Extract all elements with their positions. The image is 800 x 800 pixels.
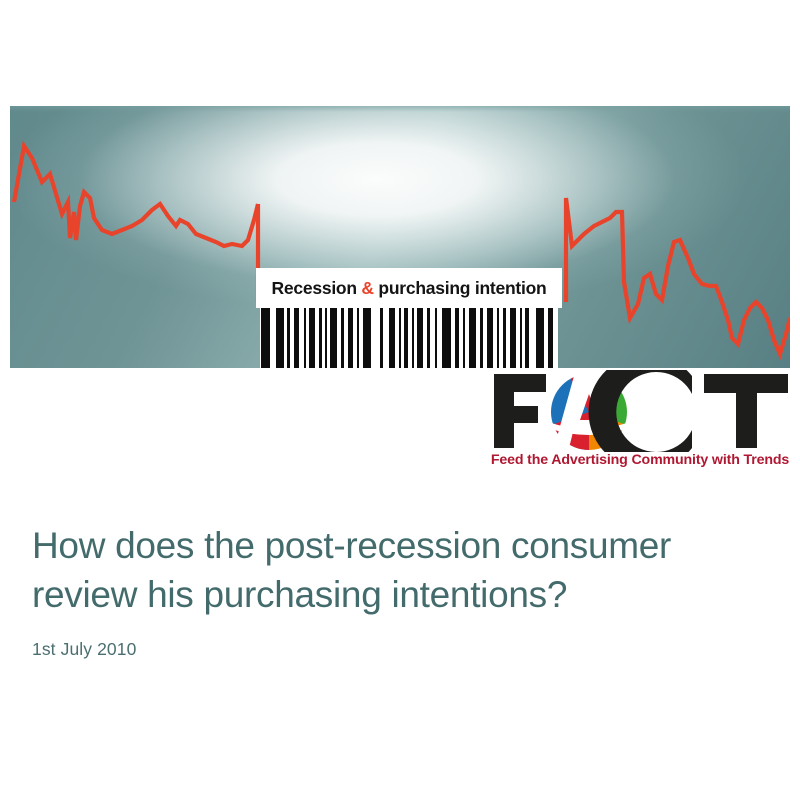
fact-wordmark (488, 370, 792, 452)
barcode-title-suffix: purchasing intention (374, 278, 547, 298)
page-title: How does the post-recession consumer rev… (32, 521, 762, 619)
slide-date: 1st July 2010 (32, 639, 762, 660)
trend-line-right (566, 198, 790, 354)
barcode-title-ampersand: & (361, 278, 373, 298)
logo-a-spacer-top (572, 370, 606, 376)
barcode-graphic: Recession & purchasing intention (256, 268, 562, 368)
barcode-title-label: Recession & purchasing intention (256, 268, 562, 308)
barcode-title-prefix: Recession (272, 278, 362, 298)
barcode-title-text: Recession & purchasing intention (272, 278, 547, 299)
logo-letter-f (494, 374, 546, 448)
logo-letter-t (704, 374, 788, 448)
trend-line-left (14, 146, 258, 246)
slide-canvas: Recession & purchasing intention (0, 0, 800, 800)
hero-banner-image: Recession & purchasing intention (10, 106, 790, 368)
title-block: How does the post-recession consumer rev… (32, 521, 762, 660)
fact-logo-tagline: Feed the Advertising Community with Tren… (488, 452, 792, 468)
logo-letter-c (589, 370, 692, 452)
fact-logo: Feed the Advertising Community with Tren… (488, 370, 792, 478)
